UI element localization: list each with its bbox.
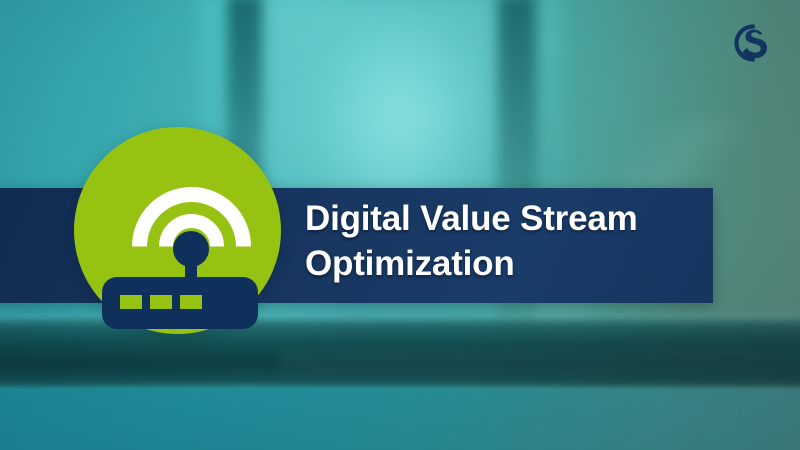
slide-title: Digital Value Stream Optimization: [305, 196, 705, 286]
router-antenna-knob: [173, 231, 209, 267]
router-led-1: [120, 295, 142, 309]
presentation-slide: Digital Value Stream Optimization: [0, 0, 800, 450]
router-led-3: [180, 295, 202, 309]
wifi-router-icon: [74, 127, 281, 334]
s-monogram-logo: [727, 21, 773, 65]
router-led-2: [150, 295, 172, 309]
logo-letter-s: [742, 30, 767, 59]
router-icon-badge: [74, 127, 281, 334]
